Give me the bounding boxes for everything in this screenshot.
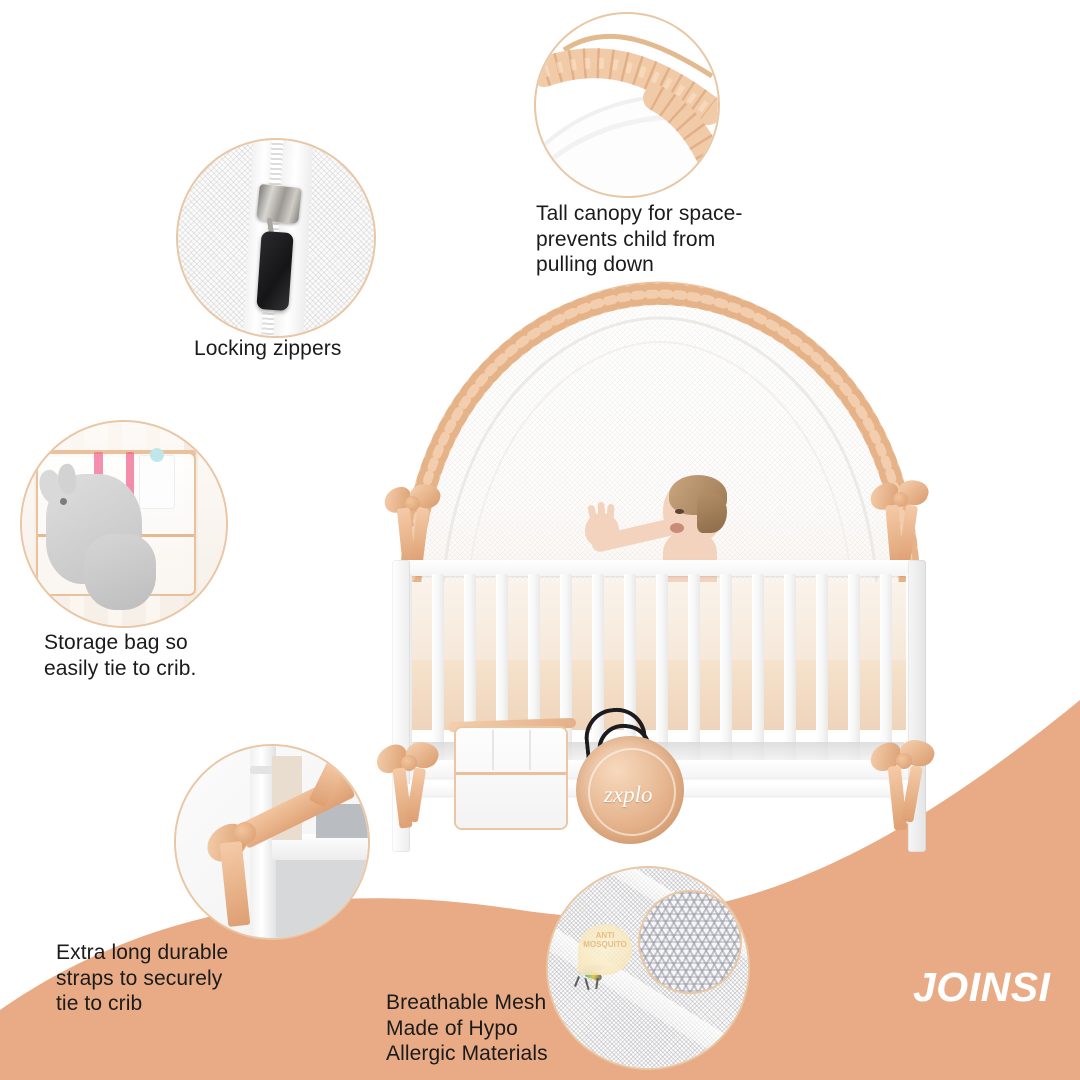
crib-storage-organizer	[456, 710, 566, 830]
crib-bow-lower-right	[870, 736, 944, 836]
brand-logo: JOINSI	[913, 964, 1050, 1011]
badge-line-1: ANTI	[596, 931, 615, 940]
caption-extra-long-straps: Extra long durable straps to securely ti…	[56, 940, 296, 1017]
zipper-pull	[256, 231, 293, 311]
callout-strap-bow[interactable]	[176, 746, 368, 938]
anti-mosquito-badge: ANTI MOSQUITO	[578, 924, 632, 975]
caption-tall-canopy: Tall canopy for space- prevents child fr…	[536, 201, 816, 278]
callout-locking-zippers[interactable]	[178, 140, 374, 336]
badge-line-2: MOSQUITO	[583, 940, 626, 949]
main-product-photo: zxplo	[370, 270, 950, 860]
mesh-magnifier-inset	[640, 892, 740, 992]
caption-locking-zippers: Locking zippers	[194, 336, 424, 362]
infographic-canvas: zxplo Locking zippers	[0, 0, 1080, 1080]
callout-storage-bag[interactable]	[22, 422, 226, 626]
carry-bag-label: zxplo	[604, 782, 653, 808]
carry-bag: zxplo	[570, 702, 690, 826]
callout-tall-canopy[interactable]	[536, 14, 718, 196]
caption-breathable-mesh: Breathable Mesh Made of Hypo Allergic Ma…	[386, 990, 626, 1067]
caption-storage-bag: Storage bag so easily tie to crib.	[44, 630, 264, 681]
zipper-slider	[256, 184, 302, 224]
crib-bow-lower-left	[376, 738, 446, 834]
